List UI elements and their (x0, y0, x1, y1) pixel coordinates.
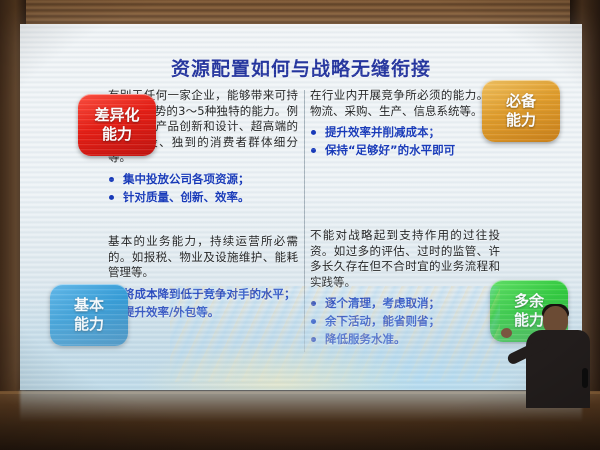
conference-room-photo: 资源配置如何与战略无缝衔接 有别于任何一家企业，能够带来可持续竞争优势的3～5种… (0, 0, 600, 450)
badge-line-1: 基本 (74, 296, 104, 315)
list-item: 逐个清理，考虑取消； (310, 296, 500, 311)
bullet-text: 针对质量、创新、效率。 (123, 190, 250, 204)
list-item: 提升效率并削减成本； (310, 125, 500, 140)
slide-content: 有别于任何一家企业，能够带来可持续竞争优势的3～5种独特的能力。例如独特的产品创… (108, 86, 500, 354)
badge-line-1: 必备 (506, 92, 536, 111)
right-top-paragraph: 在行业内开展竞争所必须的能力。如物流、采购、生产、信息系统等。 (310, 88, 500, 119)
left-bottom-block: 基本的业务能力，持续运营所必需的。如报税、物业及设施维护、能耗管理等。 将成本降… (108, 234, 298, 323)
bullet-dot-icon (311, 337, 316, 342)
bullet-text: 提升效率/外包等。 (123, 305, 219, 319)
column-divider (304, 90, 305, 352)
left-bottom-bullets: 将成本降到低于竞争对手的水平； 提升效率/外包等。 (108, 287, 298, 320)
left-bottom-paragraph: 基本的业务能力，持续运营所必需的。如报税、物业及设施维护、能耗管理等。 (108, 234, 298, 281)
list-item: 集中投放公司各项资源； (108, 172, 298, 187)
bullet-text: 集中投放公司各项资源； (123, 172, 250, 186)
bullet-text: 保持“足够好”的水平即可 (325, 143, 455, 157)
badge-essential-capability: 必备 能力 (482, 80, 560, 142)
bullet-text: 降低服务水准。 (325, 332, 406, 346)
wall-slat-trim (0, 0, 600, 26)
list-item: 将成本降到低于竞争对手的水平； (108, 287, 298, 302)
bullet-text: 提升效率并削减成本； (325, 125, 440, 139)
left-top-bullets: 集中投放公司各项资源； 针对质量、创新、效率。 (108, 172, 298, 205)
presenter-silhouette (508, 306, 594, 406)
right-top-bullets: 提升效率并削减成本； 保持“足够好”的水平即可 (310, 125, 500, 158)
list-item: 保持“足够好”的水平即可 (310, 143, 500, 158)
badge-line-2: 能力 (506, 111, 536, 130)
badge-line-2: 能力 (102, 125, 132, 144)
right-bottom-block: 不能对战略起到支持作用的过往投资。如过多的评估、过时的监管、许多长久存在但不合时… (310, 228, 500, 350)
presenter-microphone (582, 368, 588, 388)
bullet-dot-icon (311, 319, 316, 324)
bullet-dot-icon (311, 130, 316, 135)
screen-reflection (20, 390, 582, 422)
bullet-text: 余下活动，能省则省； (325, 314, 440, 328)
list-item: 提升效率/外包等。 (108, 305, 298, 320)
badge-differentiating-capability: 差异化 能力 (78, 94, 156, 156)
slide-title: 资源配置如何与战略无缝衔接 (20, 54, 582, 81)
bullet-dot-icon (311, 148, 316, 153)
badge-line-2: 能力 (74, 315, 104, 334)
list-item: 针对质量、创新、效率。 (108, 190, 298, 205)
right-bottom-paragraph: 不能对战略起到支持作用的过往投资。如过多的评估、过时的监管、许多长久存在但不合时… (310, 228, 500, 290)
bullet-dot-icon (311, 301, 316, 306)
bullet-dot-icon (109, 195, 114, 200)
badge-line-1: 差异化 (94, 106, 139, 125)
list-item: 降低服务水准。 (310, 332, 500, 347)
bullet-dot-icon (109, 177, 114, 182)
right-bottom-bullets: 逐个清理，考虑取消； 余下活动，能省则省； 降低服务水准。 (310, 296, 500, 347)
presenter-hand (501, 328, 512, 338)
projection-screen: 资源配置如何与战略无缝衔接 有别于任何一家企业，能够带来可持续竞争优势的3～5种… (20, 24, 582, 390)
bullet-text: 逐个清理，考虑取消； (325, 296, 440, 310)
bullet-text: 将成本降到低于竞争对手的水平； (123, 287, 296, 301)
list-item: 余下活动，能省则省； (310, 314, 500, 329)
column-right: 在行业内开展竞争所必须的能力。如物流、采购、生产、信息系统等。 提升效率并削减成… (310, 86, 500, 354)
right-top-block: 在行业内开展竞争所必须的能力。如物流、采购、生产、信息系统等。 提升效率并削减成… (310, 88, 500, 161)
badge-basic-capability: 基本 能力 (50, 284, 128, 346)
